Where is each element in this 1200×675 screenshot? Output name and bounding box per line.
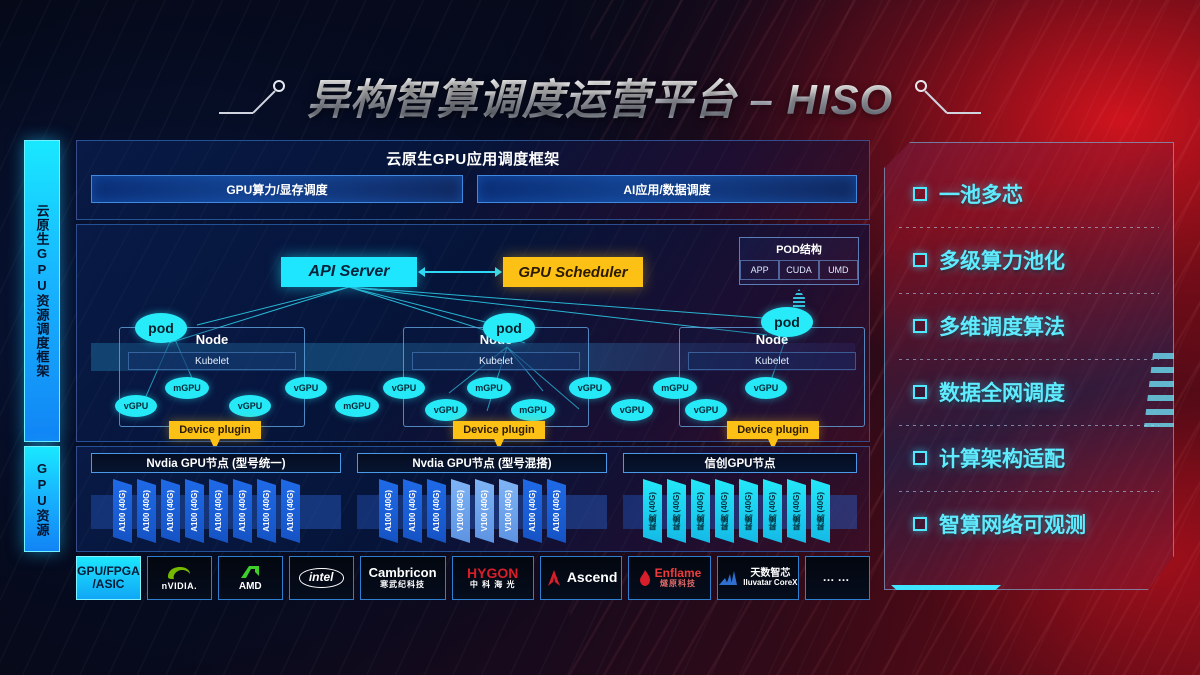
vendor-more[interactable]: …… <box>805 556 870 600</box>
gpu-card: A100 (40G) <box>403 479 422 543</box>
gpu-card-label: V100 (40G) <box>480 490 489 531</box>
kubelet-3: Kubelet <box>688 352 856 370</box>
gpu-card: A100 (40G) <box>233 479 252 543</box>
gpu-card-label: A100 (40G) <box>166 490 175 532</box>
gpu-card-label: 昇腾 (40G) <box>815 492 826 531</box>
vendor-nvidia-label: nVIDIA. <box>162 582 198 592</box>
gpu-card: A100 (40G) <box>161 479 180 543</box>
gpu-card-label: A100 (40G) <box>432 490 441 532</box>
mgpu-ellipse-1a[interactable]: mGPU <box>165 377 209 399</box>
vendor-iluvatar[interactable]: 天数智芯 Iluvatar CoreX <box>717 556 799 600</box>
vendor-caption-line2: /ASIC <box>92 578 124 591</box>
gpu-card-label: A100 (40G) <box>214 490 223 532</box>
vgpu-ellipse-3a[interactable]: vGPU <box>685 399 727 421</box>
pod-cell-app: APP <box>740 260 779 280</box>
sidebar-label-framework: 云原生GPU资源调度框架 <box>24 140 60 442</box>
title-bar: 异构智算调度运营平台 – HISO <box>0 62 1200 130</box>
vendor-cambricon-sub: 寒武纪科技 <box>369 581 437 590</box>
feature-item-5[interactable]: 计算架构适配 <box>885 425 1173 491</box>
gpu-card-label: V100 (40G) <box>504 490 513 531</box>
sidebar-label-gpu-resource: GPU资源 <box>24 446 60 552</box>
enflame-flame-icon <box>638 569 652 587</box>
gpu-scheduler-box[interactable]: GPU Scheduler <box>503 257 643 287</box>
vendor-ascend[interactable]: Ascend <box>540 556 622 600</box>
vgpu-ellipse-3b[interactable]: vGPU <box>745 377 787 399</box>
feature-item-3[interactable]: 多维调度算法 <box>885 293 1173 359</box>
gpu-card-label: A100 (40G) <box>528 490 537 532</box>
scheduling-section: API Server GPU Scheduler POD结构 APP CUDA … <box>76 224 870 442</box>
gpu-card-label: A100 (40G) <box>384 490 393 532</box>
features-panel: 一池多芯 多级算力池化 多维调度算法 数据全网调度 计算架构适配 智算网络可观测 <box>884 142 1174 590</box>
feature-item-6[interactable]: 智算网络可观测 <box>885 491 1173 557</box>
gpu-card: A100 (40G) <box>523 479 542 543</box>
title-right-decoration-icon <box>909 73 981 119</box>
gpu-card: A100 (40G) <box>209 479 228 543</box>
architecture-diagram: 云原生GPU资源调度框架 GPU资源 云原生GPU应用调度框架 GPU算力/显存… <box>24 140 870 602</box>
kubelet-2: Kubelet <box>412 352 580 370</box>
gpu-card: A100 (40G) <box>137 479 156 543</box>
gpu-card-label: 昇腾 (40G) <box>719 492 730 531</box>
feature-label: 计算架构适配 <box>939 443 1065 473</box>
vendor-cambricon-label: Cambricon <box>369 566 437 580</box>
gpu-card-label: A100 (40G) <box>286 490 295 532</box>
title-left-decoration-icon <box>219 73 291 119</box>
gpu-group-title-2: Nvdia GPU节点 (型号混搭) <box>357 453 607 473</box>
gpu-card: A100 (40G) <box>257 479 276 543</box>
gpu-group-title-3: 信创GPU节点 <box>623 453 857 473</box>
panel-foot-accent-icon <box>891 585 1001 595</box>
gpu-group-3: 信创GPU节点 昇腾 (40G) 昇腾 (40G) 昇腾 (40G) 昇腾 (4… <box>623 453 857 547</box>
vgpu-ellipse-1a[interactable]: vGPU <box>115 395 157 417</box>
bullet-square-icon <box>913 253 927 267</box>
gpu-card: 昇腾 (40G) <box>691 479 710 543</box>
gpu-card: 昇腾 (40G) <box>811 479 830 543</box>
feature-item-2[interactable]: 多级算力池化 <box>885 227 1173 293</box>
vgpu-ellipse-1b[interactable]: vGPU <box>229 395 271 417</box>
vendor-more-label: …… <box>823 571 853 584</box>
mgpu-ellipse-3a[interactable]: mGPU <box>653 377 697 399</box>
gpu-card: A100 (40G) <box>113 479 132 543</box>
pod-ellipse-1[interactable]: pod <box>135 313 187 343</box>
gpu-group-title-1: Nvdia GPU节点 (型号统一) <box>91 453 341 473</box>
gpu-card: 昇腾 (40G) <box>643 479 662 543</box>
vendor-amd[interactable]: AMD <box>218 556 283 600</box>
vendor-iluvatar-sub: Iluvatar CoreX <box>743 579 797 588</box>
mgpu-ellipse-2a[interactable]: mGPU <box>467 377 511 399</box>
pod-cell-umd: UMD <box>819 260 858 280</box>
feature-label: 多维调度算法 <box>939 311 1065 341</box>
gpu-card: A100 (40G) <box>379 479 398 543</box>
band-ai-app[interactable]: AI应用/数据调度 <box>477 175 857 203</box>
vgpu-ellipse-2a[interactable]: vGPU <box>383 377 425 399</box>
vendor-hygon-sub: 中 科 海 光 <box>467 581 518 590</box>
feature-label: 一池多芯 <box>939 179 1023 209</box>
vgpu-ellipse-free-3[interactable]: vGPU <box>611 399 653 421</box>
ascend-mark-icon <box>545 569 563 587</box>
gpu-card: V100 (40G) <box>451 479 470 543</box>
gpu-card-label: 昇腾 (40G) <box>695 492 706 531</box>
band-gpu-compute[interactable]: GPU算力/显存调度 <box>91 175 463 203</box>
mgpu-ellipse-2b[interactable]: mGPU <box>511 399 555 421</box>
gpu-card-label: A100 (40G) <box>262 490 271 532</box>
pod-structure-box: POD结构 APP CUDA UMD <box>739 237 859 285</box>
gpu-card-label: 昇腾 (40G) <box>647 492 658 531</box>
gpu-card: A100 (40G) <box>281 479 300 543</box>
pod-upload-arrow-icon <box>793 289 805 309</box>
feature-label: 智算网络可观测 <box>939 509 1086 539</box>
page-title: 异构智算调度运营平台 – HISO <box>307 66 893 127</box>
gpu-card: 昇腾 (40G) <box>763 479 782 543</box>
gpu-card: V100 (40G) <box>499 479 518 543</box>
bullet-square-icon <box>913 187 927 201</box>
gpu-card-label: A100 (40G) <box>552 490 561 532</box>
pod-cell-cuda: CUDA <box>779 260 818 280</box>
vendor-hygon[interactable]: HYGON 中 科 海 光 <box>452 556 534 600</box>
gpu-card-label: A100 (40G) <box>142 490 151 532</box>
vendor-amd-label: AMD <box>239 581 262 592</box>
gpu-card: A100 (40G) <box>547 479 566 543</box>
pod-ellipse-3[interactable]: pod <box>761 307 813 337</box>
feature-label: 多级算力池化 <box>939 245 1065 275</box>
gpu-card: 昇腾 (40G) <box>787 479 806 543</box>
framework-section-title: 云原生GPU应用调度框架 <box>77 148 869 169</box>
mgpu-ellipse-free-1[interactable]: mGPU <box>335 395 379 417</box>
slide-canvas: 异构智算调度运营平台 – HISO 云原生GPU资源调度框架 GPU资源 云原生… <box>0 0 1200 675</box>
vgpu-ellipse-free-2[interactable]: vGPU <box>569 377 611 399</box>
bullet-square-icon <box>913 385 927 399</box>
gpu-card-label: 昇腾 (40G) <box>671 492 682 531</box>
gpu-group-1: Nvdia GPU节点 (型号统一) A100 (40G) A100 (40G)… <box>91 453 341 547</box>
feature-label: 数据全网调度 <box>939 377 1065 407</box>
gpu-card-label: A100 (40G) <box>118 490 127 532</box>
vendor-intel-label: intel <box>299 568 344 587</box>
device-plugin-2[interactable]: Device plugin <box>453 421 545 439</box>
bullet-square-icon <box>913 451 927 465</box>
gpu-card: 昇腾 (40G) <box>715 479 734 543</box>
api-server-box[interactable]: API Server <box>281 257 417 287</box>
gpu-card-label: 昇腾 (40G) <box>767 492 778 531</box>
gpu-card: A100 (40G) <box>185 479 204 543</box>
gpu-card-label: A100 (40G) <box>190 490 199 532</box>
gpu-resource-section: Nvdia GPU节点 (型号统一) A100 (40G) A100 (40G)… <box>76 446 870 552</box>
vendor-enflame-sub: 燧原科技 <box>655 580 702 589</box>
device-plugin-1[interactable]: Device plugin <box>169 421 261 439</box>
vendor-intel[interactable]: intel <box>289 556 354 600</box>
vendor-nvidia[interactable]: nVIDIA. <box>147 556 212 600</box>
api-scheduler-arrow-icon <box>419 271 501 273</box>
bullet-square-icon <box>913 319 927 333</box>
device-plugin-3[interactable]: Device plugin <box>727 421 819 439</box>
iluvatar-mark-icon <box>718 570 740 586</box>
pod-structure-title: POD结构 <box>740 241 858 257</box>
feature-item-1[interactable]: 一池多芯 <box>885 161 1173 227</box>
gpu-card-label: V100 (40G) <box>456 490 465 531</box>
gpu-card: V100 (40G) <box>475 479 494 543</box>
framework-section: 云原生GPU应用调度框架 GPU算力/显存调度 AI应用/数据调度 <box>76 140 870 220</box>
gpu-card: 昇腾 (40G) <box>739 479 758 543</box>
kubelet-1: Kubelet <box>128 352 296 370</box>
gpu-card-label: A100 (40G) <box>238 490 247 532</box>
gpu-card-label: A100 (40G) <box>408 490 417 532</box>
pod-ellipse-2[interactable]: pod <box>483 313 535 343</box>
vendor-logo-row: GPU/FPGA /ASIC nVIDIA. AMD <box>76 556 870 600</box>
vgpu-ellipse-free-1[interactable]: vGPU <box>285 377 327 399</box>
vendor-hygon-label: HYGON <box>467 566 518 581</box>
vendor-enflame[interactable]: Enflame 燧原科技 <box>628 556 710 600</box>
vendor-ascend-label: Ascend <box>567 570 618 585</box>
gpu-group-2: Nvdia GPU节点 (型号混搭) A100 (40G) A100 (40G)… <box>357 453 607 547</box>
gpu-card: 昇腾 (40G) <box>667 479 686 543</box>
gpu-card-label: 昇腾 (40G) <box>791 492 802 531</box>
vendor-cambricon[interactable]: Cambricon 寒武纪科技 <box>360 556 446 600</box>
bullet-square-icon <box>913 517 927 531</box>
gpu-card: A100 (40G) <box>427 479 446 543</box>
feature-item-4[interactable]: 数据全网调度 <box>885 359 1173 425</box>
vendor-caption: GPU/FPGA /ASIC <box>76 556 141 600</box>
vgpu-ellipse-2b[interactable]: vGPU <box>425 399 467 421</box>
gpu-card-label: 昇腾 (40G) <box>743 492 754 531</box>
